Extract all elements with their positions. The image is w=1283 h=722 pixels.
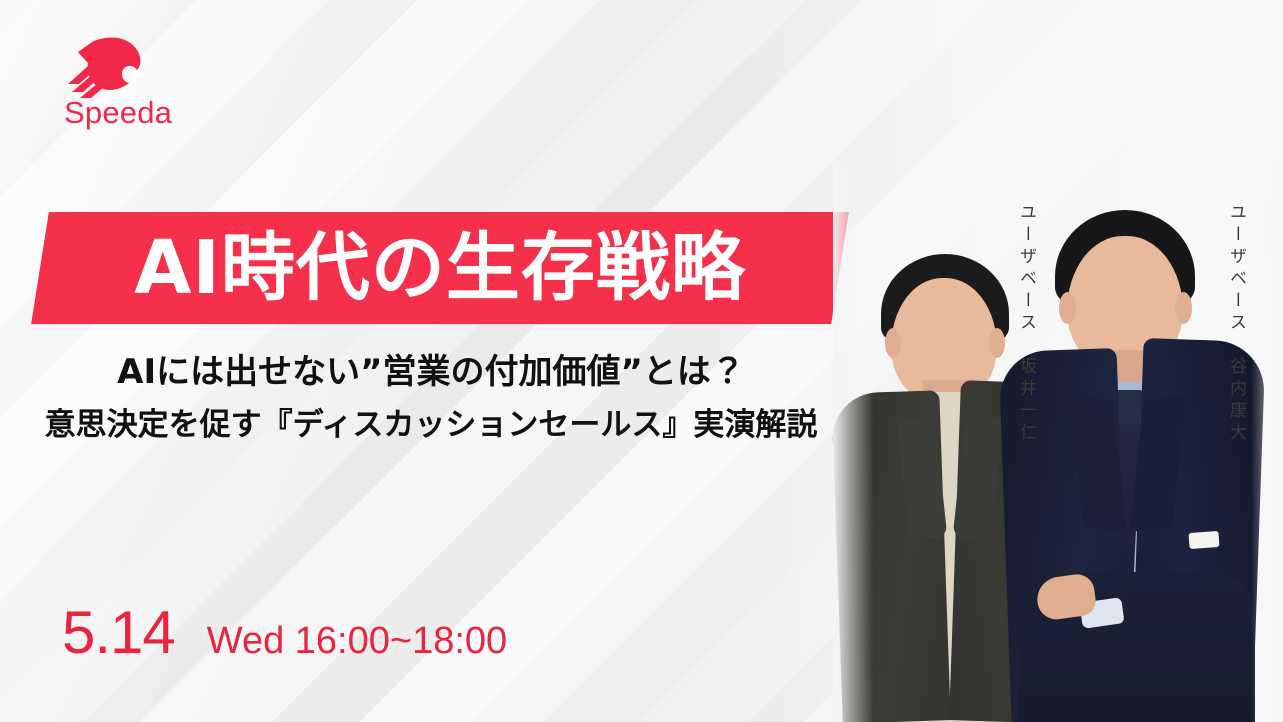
speeda-wordmark: Speeda [64,96,182,130]
subtitle-line-2: 意思決定を促す『ディスカッションセールス』実演解説 [0,406,862,444]
ear-right [1175,292,1192,324]
ear-left [1059,292,1076,324]
ear-left [885,328,901,358]
speaker-label-2: ユーザベース 谷内康大 [1226,203,1245,445]
webinar-poster: Speeda AI時代の生存戦略 AIには出せない”営業の付加価値”とは？ 意思… [0,0,1283,722]
speeda-logo[interactable]: Speeda [62,36,182,136]
speaker-photo-taniuchi [1001,202,1251,722]
page-title: AI時代の生存戦略 [40,209,840,327]
pocket-square [1188,531,1219,549]
event-datetime: 5.14 Wed 16:00~18:00 [62,602,507,664]
subtitle-line-1: AIには出せない”営業の付加価値”とは？ [0,352,862,392]
speakers-photo [833,162,1283,722]
event-time: Wed 16:00~18:00 [207,620,507,662]
speaker-label-1: ユーザベース 坂井一仁 [1016,203,1035,445]
speeda-eagle-icon [62,36,154,98]
event-date: 5.14 [62,602,175,664]
